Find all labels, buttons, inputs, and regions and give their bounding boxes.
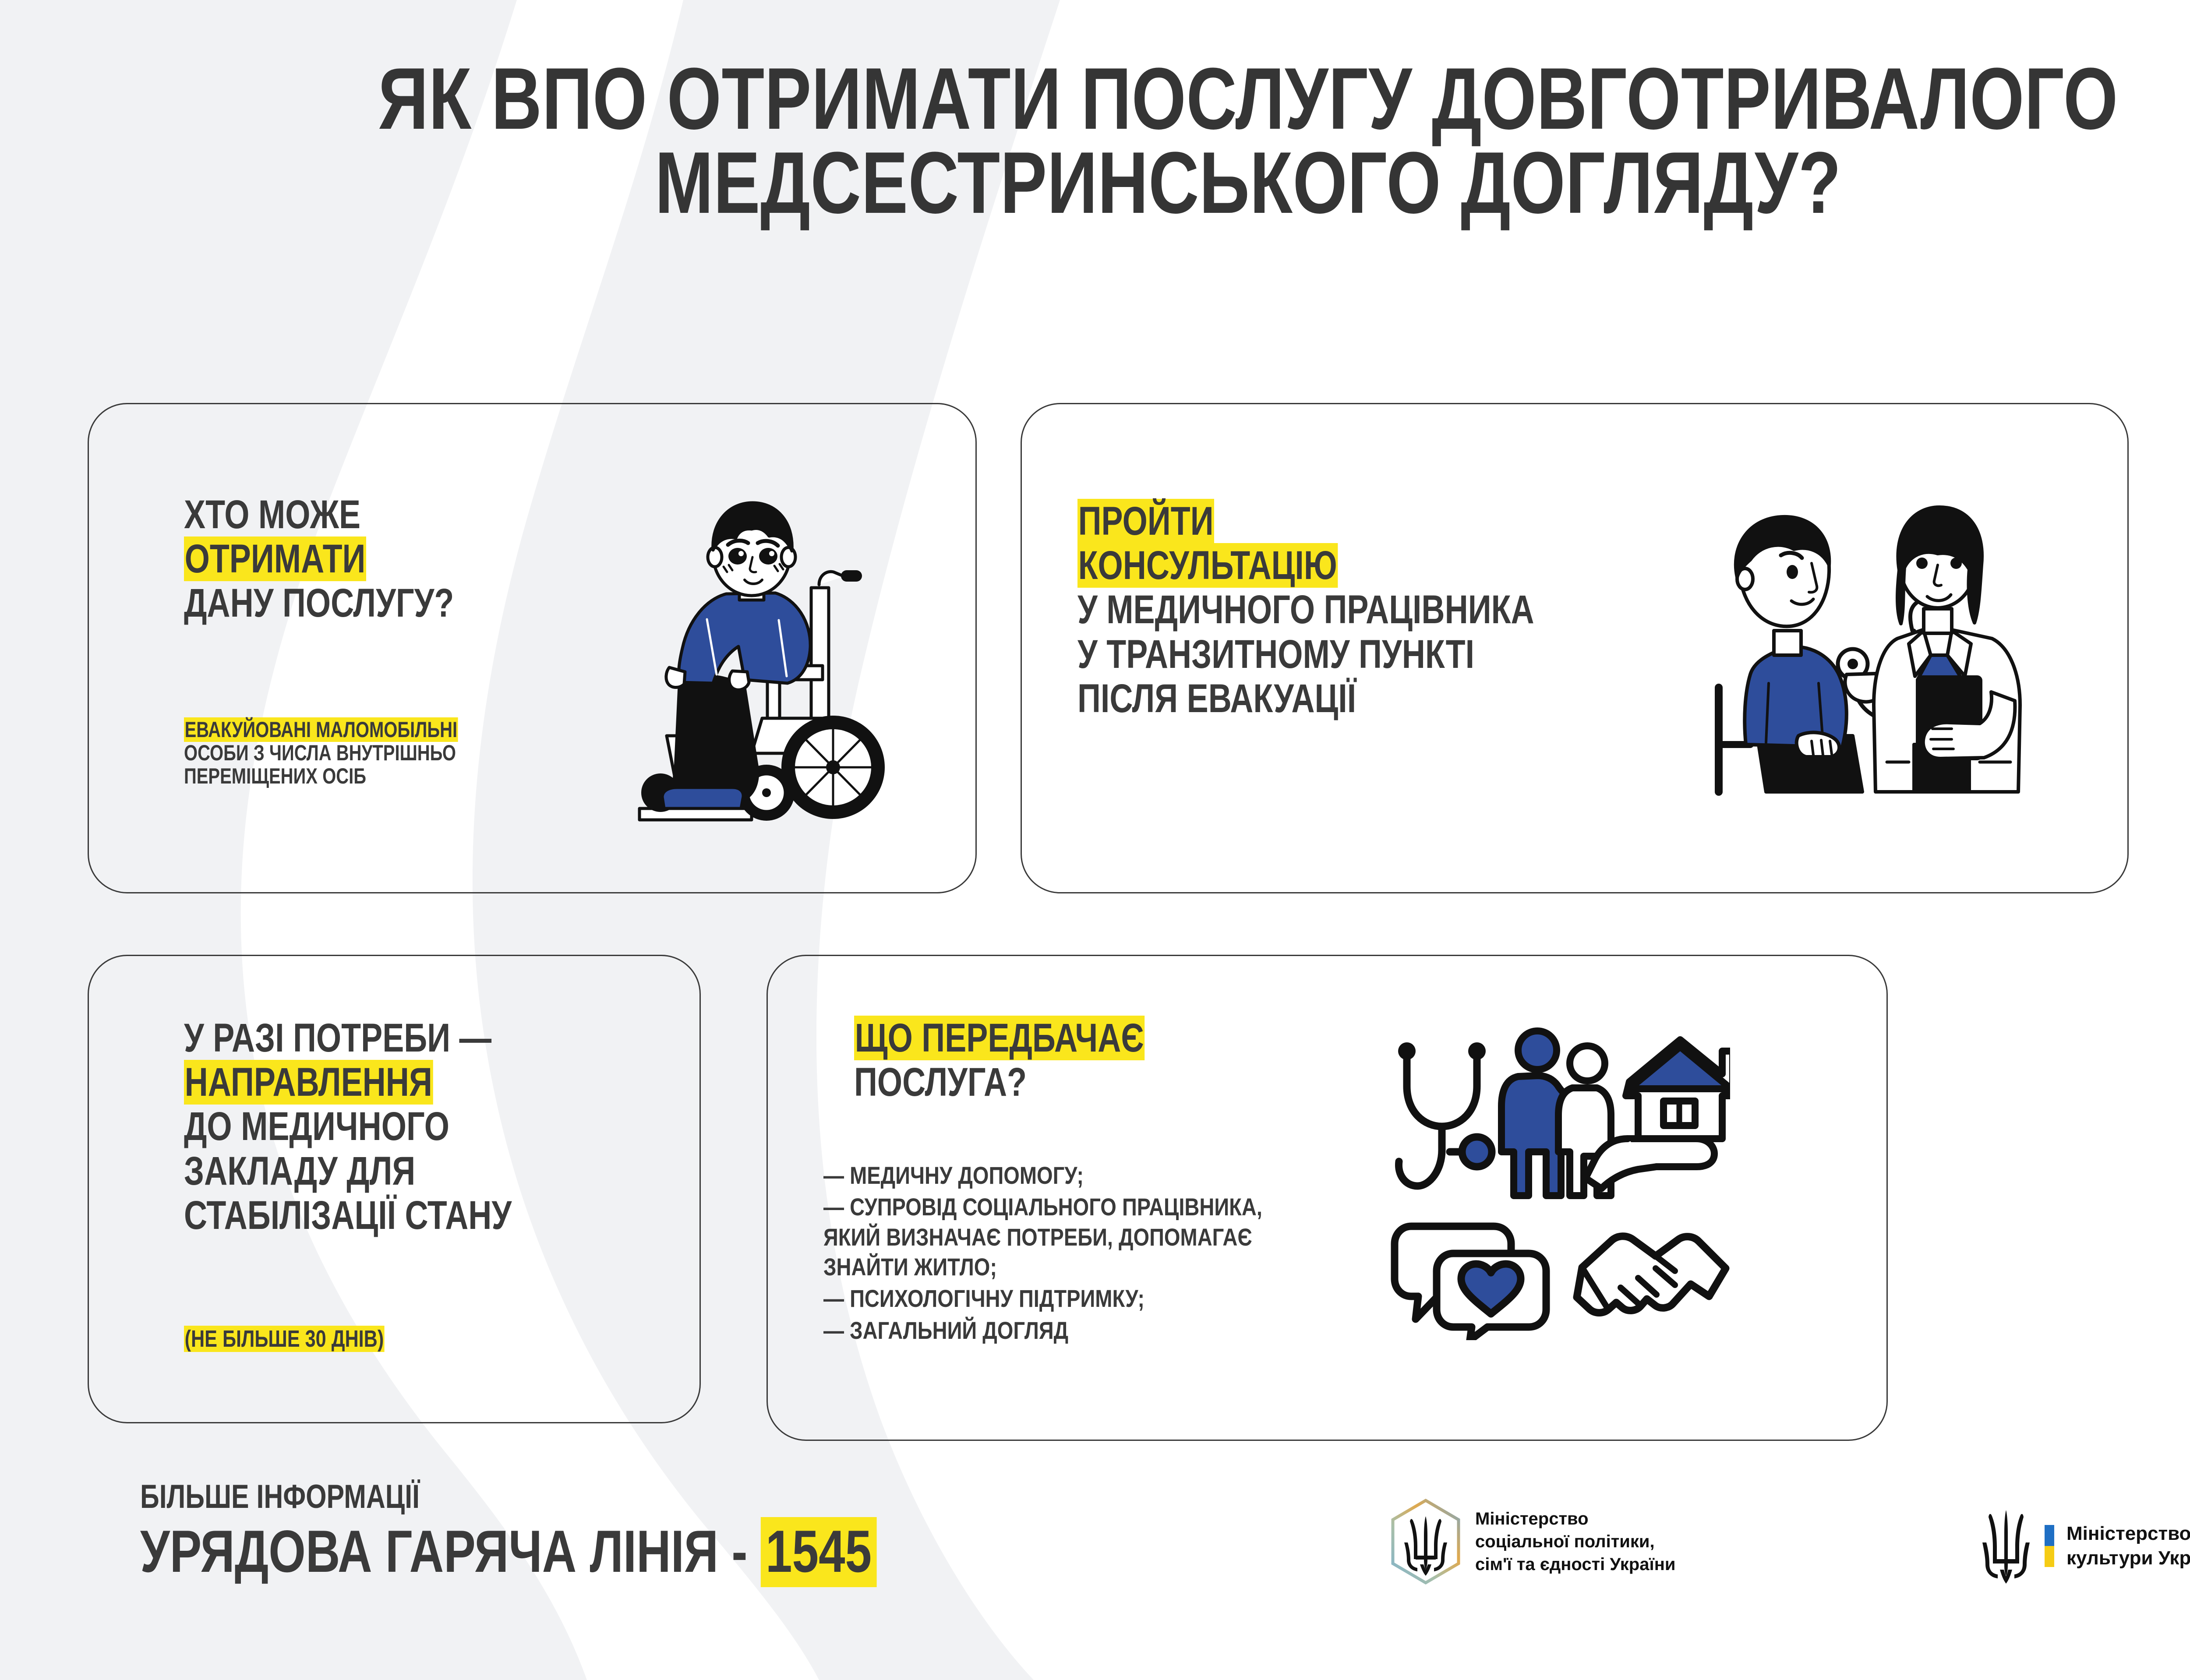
referral-note-text: (НЕ БІЛЬШЕ 30 ДНІВ)	[184, 1326, 385, 1352]
hotline-label: УРЯДОВА ГАРЯЧА ЛІНІЯ -	[140, 1518, 748, 1585]
logo-ministry-culture: Міністерство культури України	[1980, 1507, 2190, 1585]
who-heading-line-1: ХТО МОЖЕ	[184, 493, 454, 537]
list-item: — СУПРОВІД СОЦІАЛЬНОГО ПРАЦІВНИКА, ЯКИЙ …	[823, 1192, 1262, 1282]
flag-yellow-half	[2045, 1546, 2054, 1567]
referral-line-5: СТАБІЛІЗАЦІЇ СТАНУ	[184, 1193, 512, 1238]
ukraine-trident-hexagon-emblem	[1388, 1498, 1463, 1585]
ukraine-trident-emblem	[1980, 1507, 2032, 1585]
consultation-line-2: КОНСУЛЬТАЦІЮ	[1077, 543, 1338, 588]
page-title: ЯК ВПО ОТРИМАТИ ПОСЛУГУ ДОВГОТРИВАЛОГО М…	[0, 57, 2190, 225]
list-item: — ЗАГАЛЬНИЙ ДОГЛЯД	[823, 1316, 1262, 1345]
trident-glyph	[1404, 1516, 1447, 1576]
who-heading-line-3: ДАНУ ПОСЛУГУ?	[184, 581, 454, 625]
hotline-number[interactable]: 1545	[761, 1517, 876, 1587]
hotline-line: УРЯДОВА ГАРЯЧА ЛІНІЯ - 1545	[140, 1521, 876, 1581]
referral-line-4: ЗАКЛАДУ ДЛЯ	[184, 1149, 512, 1193]
logo-culture-text: Міністерство культури України	[2066, 1521, 2190, 1571]
who-sub-line-1: ЕВАКУЙОВАНІ МАЛОМОБІЛЬНІ	[184, 717, 458, 742]
who-subtext: ЕВАКУЙОВАНІ МАЛОМОБІЛЬНІ ОСОБИ З ЧИСЛА В…	[184, 718, 526, 788]
person-in-wheelchair-illustration	[613, 491, 955, 823]
title-line-2: МЕДСЕСТРИНСЬКОГО ДОГЛЯДУ?	[250, 141, 2190, 225]
includes-line-1: ЩО ПЕРЕДБАЧАЄ	[854, 1016, 1144, 1060]
includes-heading: ЩО ПЕРЕДБАЧАЄ ПОСЛУГА?	[854, 1016, 1217, 1105]
consultation-line-5: ПІСЛЯ ЕВАКУАЦІЇ	[1077, 677, 1534, 721]
referral-line-3: ДО МЕДИЧНОГО	[184, 1105, 512, 1149]
includes-line-2: ПОСЛУГА?	[854, 1060, 1144, 1105]
flag-blue-half	[2045, 1525, 2054, 1546]
handshake-icon	[1577, 1236, 1726, 1313]
includes-list: — МЕДИЧНУ ДОПОМОГУ; — СУПРОВІД СОЦІАЛЬНО…	[823, 1161, 1346, 1347]
who-heading-line-2: ОТРИМАТИ	[184, 536, 366, 581]
doctor-examining-patient-illustration	[1708, 499, 2059, 797]
referral-heading: У РАЗІ ПОТРЕБИ — НАПРАВЛЕННЯ ДО МЕДИЧНОГ…	[184, 1016, 593, 1238]
stethoscope-icon	[1398, 1042, 1492, 1186]
list-item: — МЕДИЧНУ ДОПОМОГУ;	[823, 1161, 1262, 1190]
who-heading: ХТО МОЖЕ ОТРИМАТИ ДАНУ ПОСЛУГУ?	[184, 493, 521, 626]
logo-social-text: Міністерство соціальної політики, сім'ї …	[1475, 1507, 1675, 1576]
consultation-line-3: У МЕДИЧНОГО ПРАЦІВНИКА	[1077, 588, 1534, 632]
list-item: — ПСИХОЛОГІЧНУ ПІДТРИМКУ;	[823, 1284, 1262, 1313]
referral-note: (НЕ БІЛЬШЕ 30 ДНІВ)	[184, 1327, 434, 1351]
referral-line-2: НАПРАВЛЕННЯ	[184, 1060, 433, 1105]
title-line-1: ЯК ВПО ОТРИМАТИ ПОСЛУГУ ДОВГОТРИВАЛОГО	[250, 57, 2190, 141]
who-sub-line-3: ПЕРЕМІЩЕНИХ ОСІБ	[184, 765, 458, 788]
service-icons-cluster	[1384, 1007, 1730, 1340]
speech-bubbles-heart-icon	[1395, 1226, 1546, 1340]
more-info-label: БІЛЬШЕ ІНФОРМАЦІЇ	[140, 1480, 876, 1514]
ukraine-flag-bar	[2045, 1525, 2054, 1567]
logo-ministry-social-policy: Міністерство соціальної політики, сім'ї …	[1388, 1498, 1675, 1585]
who-sub-line-2: ОСОБИ З ЧИСЛА ВНУТРІШНЬО	[184, 741, 458, 765]
consultation-line-4: У ТРАНЗИТНОМУ ПУНКТІ	[1077, 632, 1534, 677]
footer-contact: БІЛЬШЕ ІНФОРМАЦІЇ УРЯДОВА ГАРЯЧА ЛІНІЯ -…	[140, 1480, 1061, 1581]
referral-line-1: У РАЗІ ПОТРЕБИ —	[184, 1016, 512, 1060]
consultation-heading: ПРОЙТИ КОНСУЛЬТАЦІЮ У МЕДИЧНОГО ПРАЦІВНИ…	[1077, 499, 1648, 721]
consultation-line-1: ПРОЙТИ	[1077, 499, 1214, 544]
